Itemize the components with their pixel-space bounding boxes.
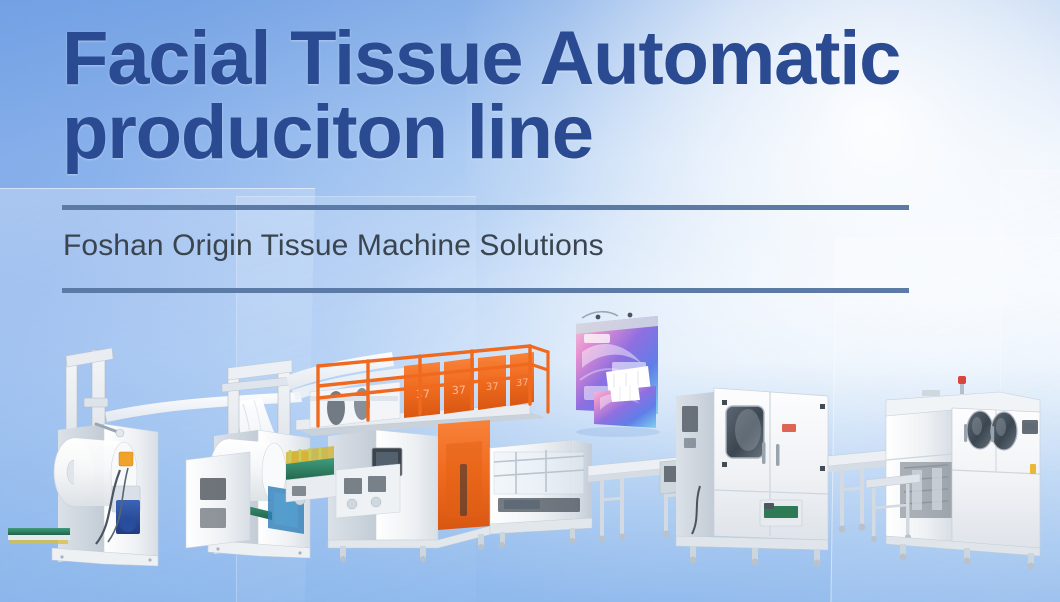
headline-line-2: produciton line bbox=[62, 96, 1002, 170]
single-pack-machine bbox=[660, 388, 828, 567]
divider-bottom bbox=[62, 288, 909, 293]
svg-text:37: 37 bbox=[516, 378, 529, 389]
tissue-pack-sample bbox=[576, 312, 660, 437]
divider-top bbox=[62, 205, 909, 210]
page-subtitle: Foshan Origin Tissue Machine Solutions bbox=[63, 229, 943, 263]
svg-text:37: 37 bbox=[486, 382, 499, 393]
log-saw-unit bbox=[490, 440, 592, 548]
bundler-machine bbox=[866, 376, 1040, 570]
page-title: Facial Tissue Automatic produciton line bbox=[62, 22, 1002, 171]
product-banner: Facial Tissue Automatic produciton line … bbox=[0, 0, 1060, 602]
svg-text:37: 37 bbox=[416, 388, 430, 401]
headline-line-1: Facial Tissue Automatic bbox=[62, 16, 900, 101]
